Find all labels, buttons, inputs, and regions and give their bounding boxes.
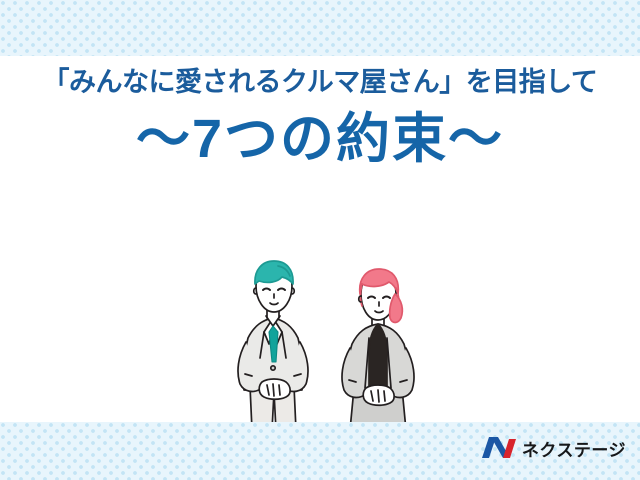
brand-wordmark: ネクステージ <box>522 442 626 459</box>
headline-block: 「みんなに愛されるクルマ屋さん」を目指して ～7つの約束～ <box>0 68 640 169</box>
staff-illustration-svg <box>228 258 436 430</box>
nextage-n-logo-icon <box>482 437 516 464</box>
top-dot-band <box>0 0 640 56</box>
two-bowing-staff-illustration <box>228 258 436 430</box>
poster-canvas: 「みんなに愛されるクルマ屋さん」を目指して ～7つの約束～ <box>0 0 640 480</box>
headline-secondary: ～7つの約束～ <box>0 110 640 169</box>
headline-primary: 「みんなに愛されるクルマ屋さん」を目指して <box>0 68 640 98</box>
brand-logo: ネクステージ <box>482 437 626 464</box>
male-staff-figure <box>238 261 308 430</box>
female-staff-figure <box>342 269 414 430</box>
